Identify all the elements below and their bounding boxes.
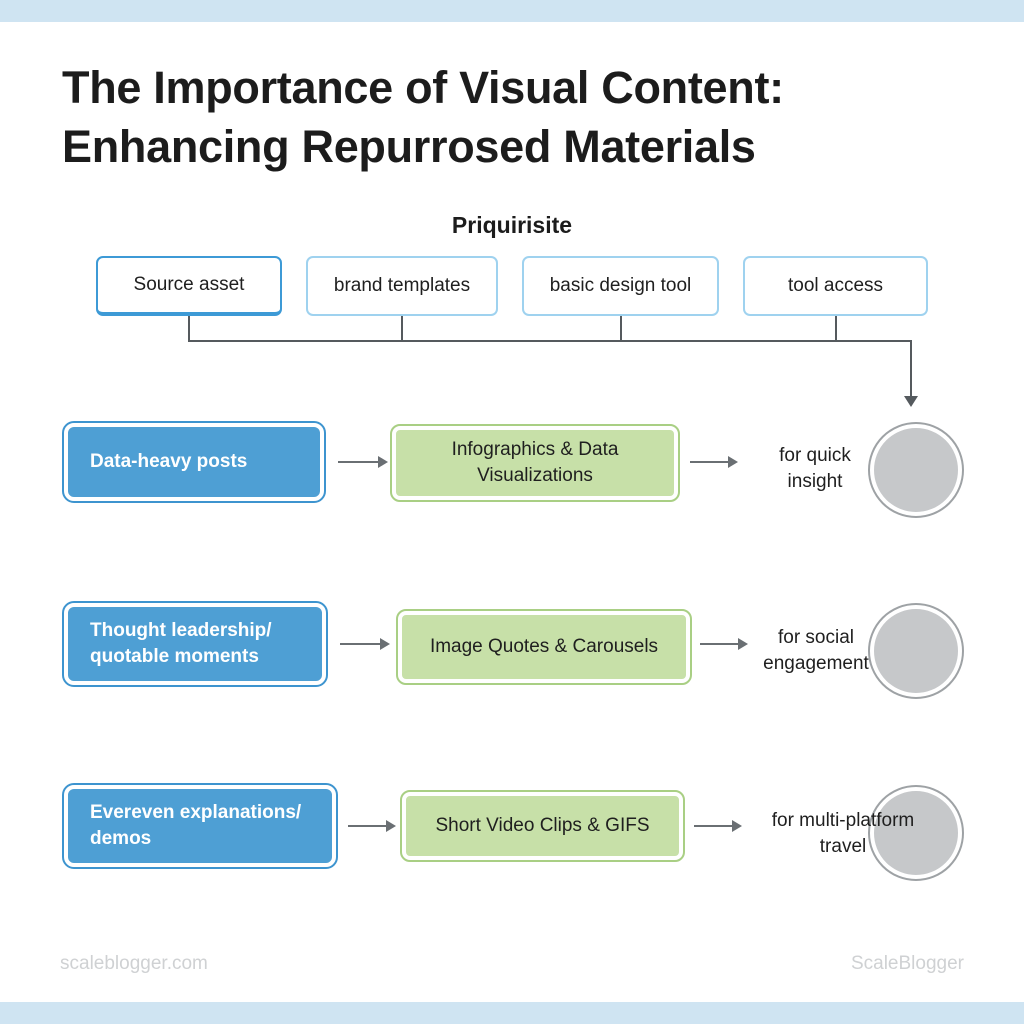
flow-arrow-3b (694, 820, 742, 832)
arrow-head-icon (386, 820, 396, 832)
footer-site-url: scaleblogger.com (60, 953, 208, 975)
outcome-circle-1 (870, 424, 962, 516)
page-title: The Importance of Visual Content: Enhanc… (62, 58, 962, 177)
flow-arrow-3a (348, 820, 396, 832)
flow-output-label: Infographics & Data Visualizations (408, 437, 662, 488)
arrow-head-icon (378, 456, 388, 468)
flow-output-box-3[interactable]: Short Video Clips & GIFS (402, 792, 683, 860)
prerequisite-heading: Priquirisite (0, 212, 1024, 239)
flow-arrow-1a (338, 456, 388, 468)
flow-output-label: Image Quotes & Carousels (430, 634, 658, 660)
infographic-canvas: The Importance of Visual Content: Enhanc… (0, 0, 1024, 1024)
flow-arrow-2b (700, 638, 748, 650)
arrow-head-icon (732, 820, 742, 832)
arrow-shaft (694, 825, 732, 827)
flow-output-label: Short Video Clips & GIFS (435, 813, 649, 839)
arrow-shaft (700, 643, 738, 645)
footer-brand-name: ScaleBlogger (851, 953, 964, 975)
arrow-head-icon (728, 456, 738, 468)
top-accent-band (0, 0, 1024, 22)
flow-outcome-label-3: for multi-platform travel (750, 808, 936, 860)
connector-drop-4 (835, 316, 837, 341)
flow-arrow-1b (690, 456, 738, 468)
arrow-head-icon (738, 638, 748, 650)
arrow-shaft (348, 825, 386, 827)
flow-source-box-3[interactable]: Evereven explanations/ demos (64, 785, 336, 867)
prerequisite-label: tool access (788, 275, 883, 297)
flow-outcome-label-1: for quick insight (756, 443, 874, 495)
arrow-head-icon (380, 638, 390, 650)
prerequisite-label: Source asset (134, 274, 245, 296)
page-title-line-1: The Importance of Visual Content: (62, 58, 962, 117)
prerequisite-box-tool-access[interactable]: tool access (743, 256, 928, 316)
connector-drop-2 (401, 316, 403, 341)
connector-bus-line (188, 340, 912, 342)
connector-drop-3 (620, 316, 622, 341)
flow-outcome-label-2: for social engagement (748, 625, 884, 677)
arrow-shaft (338, 461, 378, 463)
connector-arrow-shaft (910, 340, 912, 398)
connector-arrow-head (904, 396, 918, 407)
flow-output-box-2[interactable]: Image Quotes & Carousels (398, 611, 690, 683)
page-title-line-2: Enhancing Repurrosed Materials (62, 117, 962, 176)
flow-output-box-1[interactable]: Infographics & Data Visualizations (392, 426, 678, 500)
flow-source-label: Thought leadership/ quotable moments (90, 618, 312, 669)
prerequisite-box-brand-templates[interactable]: brand templates (306, 256, 498, 316)
prerequisite-box-basic-design-tool[interactable]: basic design tool (522, 256, 719, 316)
arrow-shaft (340, 643, 380, 645)
flow-arrow-2a (340, 638, 390, 650)
prerequisite-label: basic design tool (550, 275, 692, 297)
flow-source-label: Evereven explanations/ demos (90, 800, 322, 851)
flow-source-label: Data-heavy posts (90, 449, 247, 475)
flow-source-box-2[interactable]: Thought leadership/ quotable moments (64, 603, 326, 685)
bottom-accent-band (0, 1002, 1024, 1024)
flow-source-box-1[interactable]: Data-heavy posts (64, 423, 324, 501)
connector-drop-1 (188, 316, 190, 341)
prerequisite-box-source-asset[interactable]: Source asset (96, 256, 282, 316)
arrow-shaft (690, 461, 728, 463)
prerequisite-label: brand templates (334, 275, 470, 297)
